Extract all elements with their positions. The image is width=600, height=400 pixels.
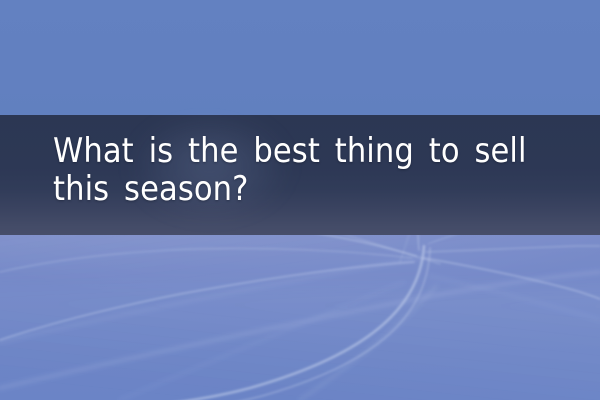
caption-text: What is the best thing to sell this seas… (53, 132, 573, 208)
sky-background (0, 0, 600, 116)
video-frame: What is the best thing to sell this seas… (0, 0, 600, 400)
